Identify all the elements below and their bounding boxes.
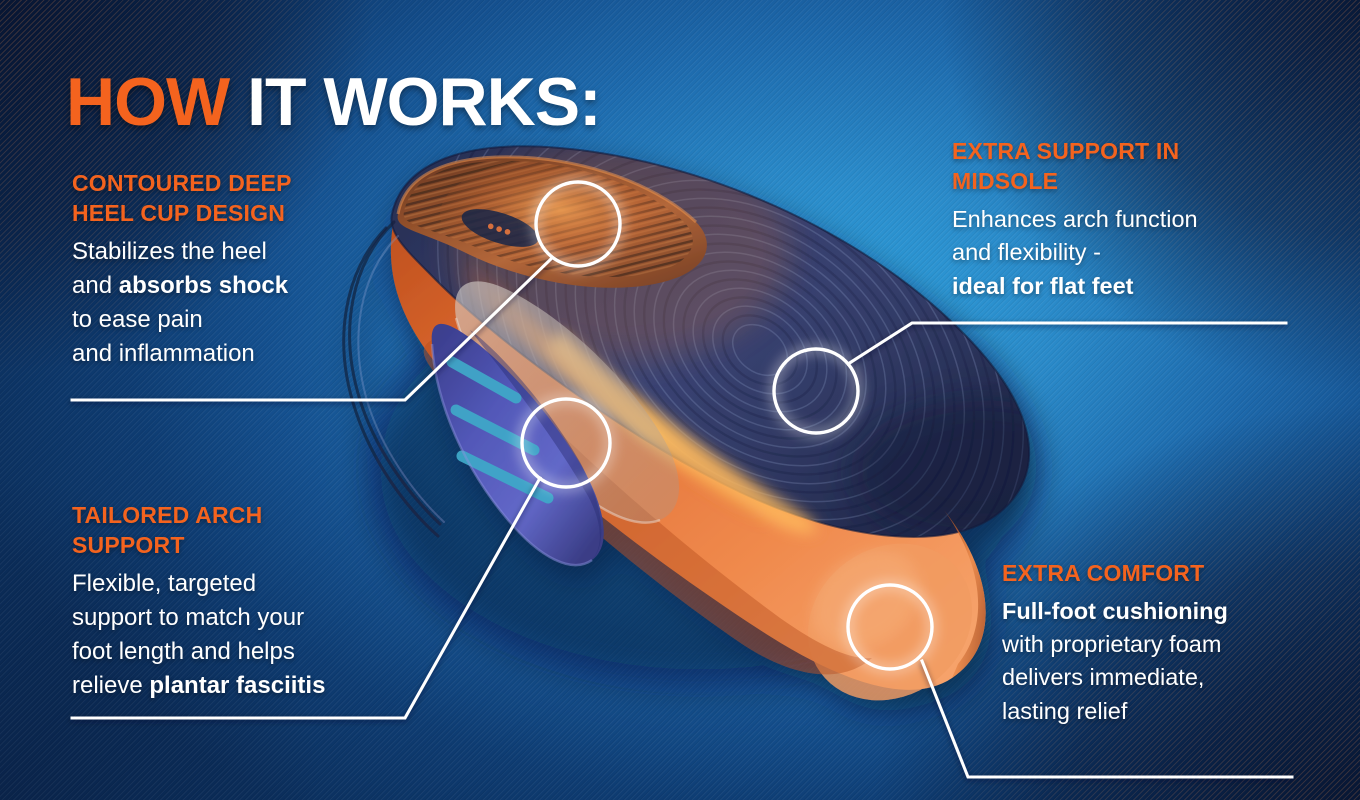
marker-circle-heel-cup[interactable] — [536, 182, 620, 266]
marker-circle-comfort[interactable] — [848, 585, 932, 669]
infographic-canvas: ●●● — [0, 0, 1360, 800]
callout-body: Full-foot cushioning with proprietary fo… — [1002, 595, 1302, 728]
callout-extra-support-in-midsole: EXTRA SUPPORT IN MIDSOLE Enhances arch f… — [952, 136, 1282, 303]
callout-contoured-deep-heel-cup-design: CONTOURED DEEP HEEL CUP DESIGN Stabilize… — [72, 168, 382, 371]
callout-body: Flexible, targeted support to match your… — [72, 567, 402, 702]
callout-body-emphasis: Full-foot cushioning — [1002, 598, 1228, 624]
marker-circle-arch-support[interactable] — [522, 399, 610, 487]
callout-body-emphasis: plantar fasciitis — [149, 672, 325, 699]
callout-body: Enhances arch function and flexibility -… — [952, 203, 1282, 302]
leader-line-midsole — [848, 323, 1286, 364]
page-title-orange: HOW — [66, 64, 247, 140]
callout-body: Stabilizes the heel and absorbs shock to… — [72, 235, 382, 370]
marker-circle-midsole[interactable] — [774, 349, 858, 433]
callout-heading: TAILORED ARCH SUPPORT — [72, 500, 402, 560]
callout-body-emphasis: absorbs shock — [119, 272, 288, 299]
callout-body-part: Enhances arch function and flexibility - — [952, 206, 1198, 265]
callout-heading: EXTRA COMFORT — [1002, 558, 1302, 588]
callout-tailored-arch-support: TAILORED ARCH SUPPORT Flexible, targeted… — [72, 500, 402, 703]
callout-extra-comfort: EXTRA COMFORT Full-foot cushioning with … — [1002, 558, 1302, 728]
page-title-white: IT WORKS: — [247, 64, 601, 140]
callout-body-part: to ease pain and inflammation — [72, 306, 255, 367]
callout-body-part: with proprietary foam delivers immediate… — [1002, 631, 1221, 723]
marker-ring-glows — [522, 182, 932, 669]
page-title: HOW IT WORKS: — [66, 68, 601, 136]
callout-heading: CONTOURED DEEP HEEL CUP DESIGN — [72, 168, 382, 228]
callout-heading: EXTRA SUPPORT IN MIDSOLE — [952, 136, 1282, 196]
callout-body-emphasis: ideal for flat feet — [952, 273, 1134, 299]
